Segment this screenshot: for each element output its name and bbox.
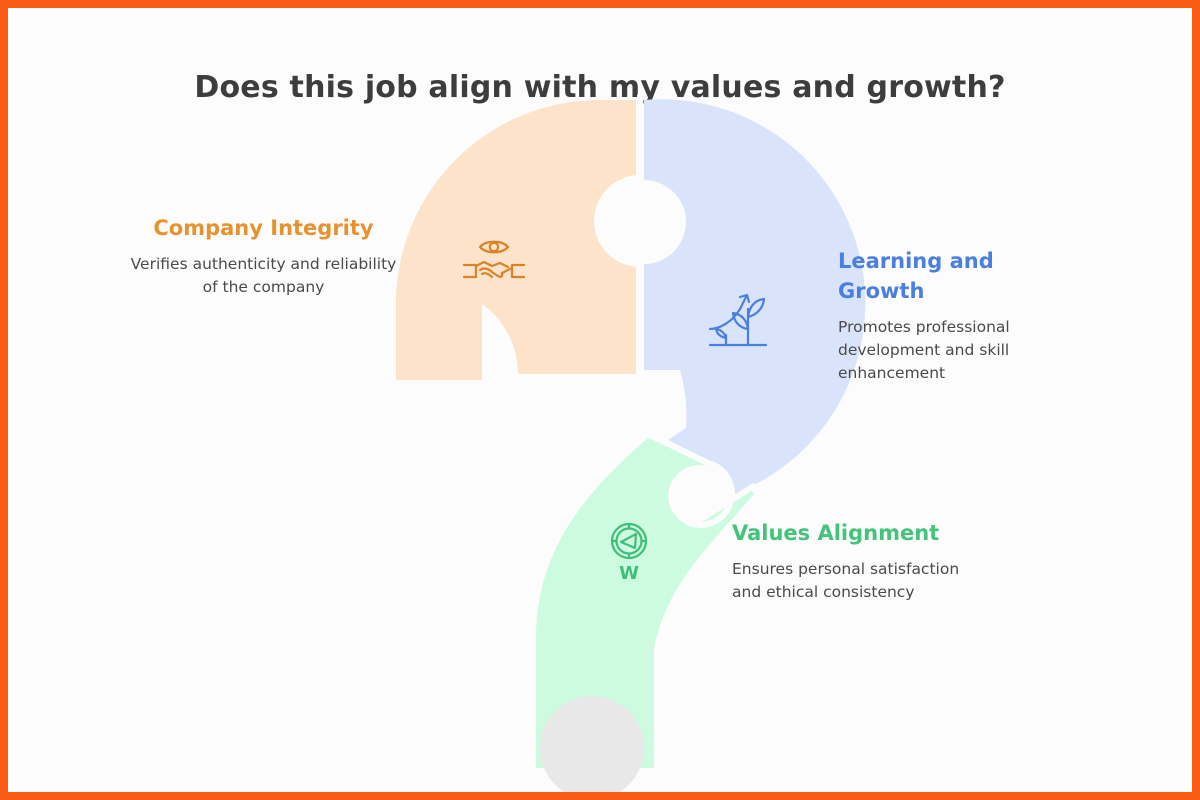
info-block-learning-growth: Learning and Growth Promotes professiona… xyxy=(838,246,1078,385)
info-block-values-alignment: Values Alignment Ensures personal satisf… xyxy=(732,518,992,604)
compass-icon-label: W xyxy=(619,563,639,584)
learning-growth-heading: Learning and Growth xyxy=(838,246,1078,306)
values-alignment-heading: Values Alignment xyxy=(732,518,992,548)
question-mark-puzzle-graphic: W xyxy=(8,8,1192,792)
info-block-company-integrity: Company Integrity Verifies authenticity … xyxy=(126,213,401,299)
company-integrity-description: Verifies authenticity and reliability of… xyxy=(126,253,401,299)
values-alignment-description: Ensures personal satisfaction and ethica… xyxy=(732,558,992,604)
company-integrity-heading: Company Integrity xyxy=(126,213,401,243)
infographic-canvas: Does this job align with my values and g… xyxy=(8,8,1192,792)
learning-growth-description: Promotes professional development and sk… xyxy=(838,316,1078,385)
